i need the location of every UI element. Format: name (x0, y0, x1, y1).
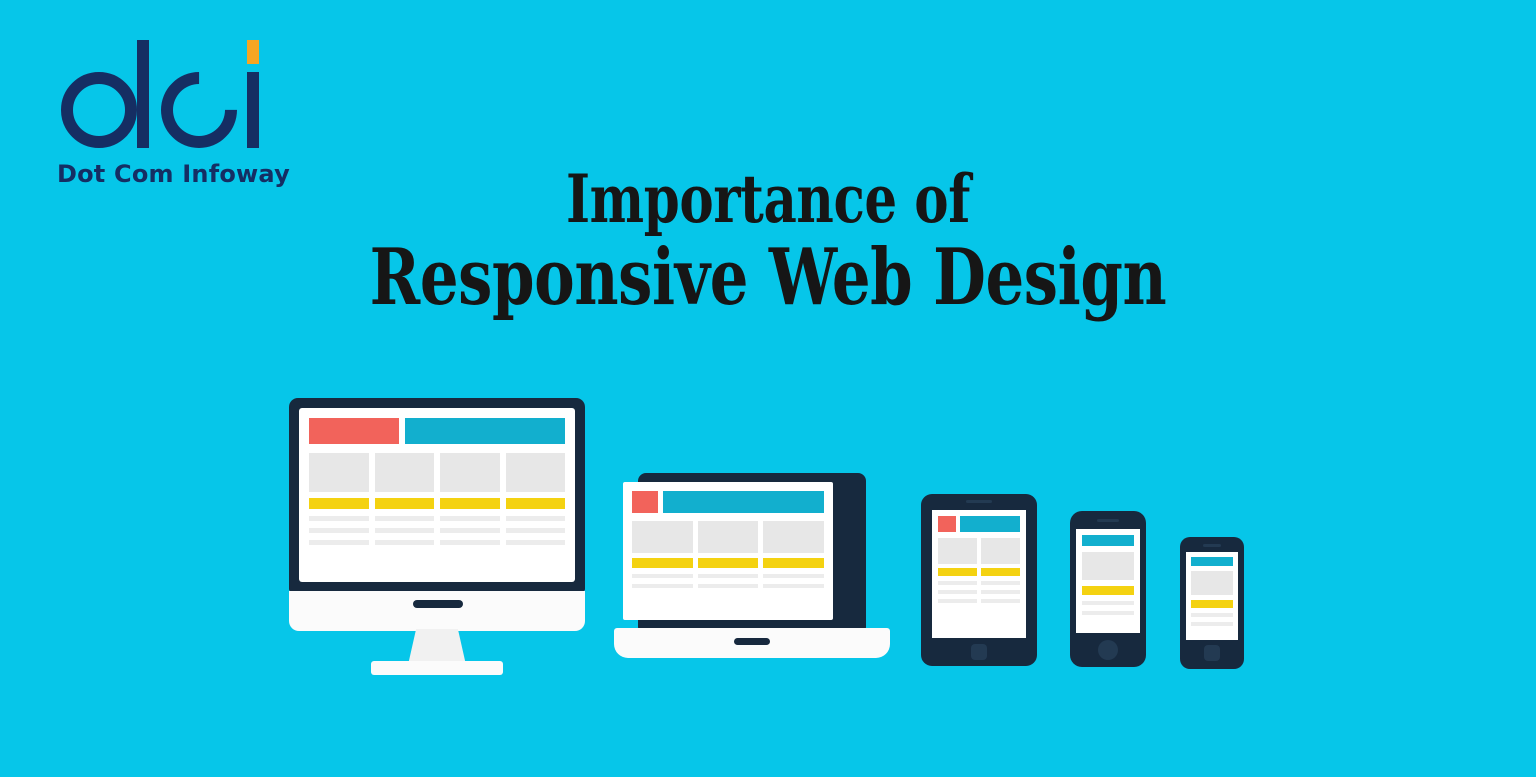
tablet-speaker-icon (966, 500, 992, 503)
desktop-image-placeholder (309, 453, 369, 492)
desktop-monitor-neck (408, 629, 466, 665)
responsive-web-design-banner: Dot Com Infoway Importance of Responsive… (0, 0, 1536, 777)
phone-small-illustration (1180, 537, 1244, 669)
laptop-logo-block (632, 491, 658, 513)
desktop-image-placeholder (506, 453, 566, 492)
device-illustration-group (0, 0, 1536, 777)
phone-small-text-line (1191, 622, 1233, 626)
tablet-column (981, 538, 1020, 603)
desktop-image-placeholder (375, 453, 435, 492)
phone-large-screen (1076, 529, 1140, 633)
phone-small-text-line (1191, 613, 1233, 617)
desktop-text-line (506, 540, 566, 545)
tablet-logo-block (938, 516, 956, 532)
desktop-monitor-base (371, 661, 503, 675)
tablet-text-line (938, 599, 977, 603)
laptop-text-line (698, 574, 759, 578)
tablet-text-line (981, 581, 1020, 585)
desktop-heading-bar (440, 498, 500, 509)
desktop-nav-bar (405, 418, 565, 444)
tablet-text-line (938, 590, 977, 594)
desktop-text-line (375, 540, 435, 545)
desktop-heading-bar (506, 498, 566, 509)
desktop-column (440, 453, 500, 545)
phone-large-text-line (1082, 611, 1134, 615)
tablet-heading-bar (938, 568, 977, 576)
phone-small-image-placeholder (1191, 571, 1233, 595)
laptop-heading-bar (632, 558, 693, 568)
desktop-column (506, 453, 566, 545)
desktop-text-line (309, 516, 369, 521)
desktop-monitor-screen (299, 408, 575, 582)
laptop-text-line (698, 584, 759, 588)
desktop-image-placeholder (440, 453, 500, 492)
phone-large-nav-bar (1082, 535, 1134, 546)
laptop-image-placeholder (763, 521, 824, 553)
laptop-image-placeholder (698, 521, 759, 553)
laptop-image-placeholder (632, 521, 693, 553)
tablet-illustration (921, 494, 1037, 666)
laptop-screen (623, 482, 833, 620)
desktop-text-line (440, 528, 500, 533)
laptop-text-line (632, 584, 693, 588)
laptop-base (614, 628, 890, 658)
desktop-text-line (506, 516, 566, 521)
phone-small-speaker-icon (1203, 544, 1221, 547)
laptop-text-line (763, 574, 824, 578)
laptop-heading-bar (763, 558, 824, 568)
tablet-column (938, 538, 977, 603)
tablet-home-button[interactable] (971, 644, 987, 660)
desktop-text-line (375, 516, 435, 521)
laptop-column (763, 521, 824, 588)
laptop-illustration (614, 473, 890, 667)
laptop-text-line (632, 574, 693, 578)
laptop-column (698, 521, 759, 588)
tablet-image-placeholder (981, 538, 1020, 564)
desktop-text-line (309, 528, 369, 533)
desktop-text-line (440, 516, 500, 521)
desktop-column (375, 453, 435, 545)
phone-small-nav-bar (1191, 557, 1233, 566)
desktop-heading-bar (375, 498, 435, 509)
desktop-text-line (506, 528, 566, 533)
tablet-image-placeholder (938, 538, 977, 564)
laptop-nav-bar (663, 491, 824, 513)
tablet-screen (932, 510, 1026, 638)
desktop-header-row (309, 418, 565, 444)
desktop-content-columns (309, 453, 565, 545)
phone-small-home-button[interactable] (1204, 645, 1220, 661)
desktop-monitor-chin (289, 591, 585, 631)
desktop-text-line (375, 528, 435, 533)
laptop-heading-bar (698, 558, 759, 568)
desktop-monitor-illustration (289, 398, 585, 670)
tablet-content-columns (938, 538, 1020, 603)
laptop-header-row (632, 491, 824, 513)
tablet-text-line (981, 590, 1020, 594)
phone-large-speaker-icon (1097, 519, 1119, 522)
tablet-nav-bar (960, 516, 1020, 532)
phone-large-illustration (1070, 511, 1146, 667)
phone-large-home-button[interactable] (1098, 640, 1118, 660)
desktop-logo-block (309, 418, 399, 444)
desktop-column (309, 453, 369, 545)
phone-large-image-placeholder (1082, 552, 1134, 580)
tablet-text-line (938, 581, 977, 585)
desktop-monitor-badge (413, 600, 463, 608)
phone-large-text-line (1082, 601, 1134, 605)
laptop-column (632, 521, 693, 588)
desktop-text-line (440, 540, 500, 545)
phone-small-screen (1186, 552, 1238, 640)
tablet-header-row (938, 516, 1020, 532)
phone-small-heading-bar (1191, 600, 1233, 608)
tablet-heading-bar (981, 568, 1020, 576)
phone-large-heading-bar (1082, 586, 1134, 595)
laptop-text-line (763, 584, 824, 588)
desktop-heading-bar (309, 498, 369, 509)
tablet-text-line (981, 599, 1020, 603)
laptop-content-columns (632, 521, 824, 588)
laptop-trackpad (734, 638, 770, 645)
desktop-text-line (309, 540, 369, 545)
